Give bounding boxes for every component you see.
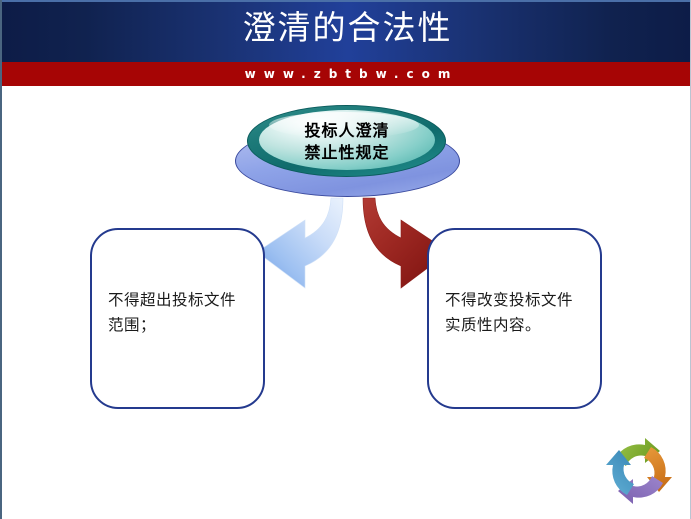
right-rule-box: 不得改变投标文件实质性内容。: [427, 228, 602, 409]
left-rule-box: 不得超出投标文件范围；: [90, 228, 265, 409]
right-rule-text: 不得改变投标文件实质性内容。: [445, 288, 587, 338]
center-node-label: 投标人澄清 禁止性规定: [259, 113, 435, 171]
left-rule-text: 不得超出投标文件范围；: [108, 288, 250, 338]
center-node-line-1: 投标人澄清: [304, 120, 389, 142]
cycle-arrows-logo-icon: [600, 432, 678, 510]
slide-canvas: 澄清的合法性 www.zbtbw.com 投标人澄清 禁止性规定: [0, 0, 691, 519]
page-title: 澄清的合法性: [2, 6, 691, 50]
website-url: www.zbtbw.com: [2, 62, 691, 86]
center-node-line-2: 禁止性规定: [304, 142, 389, 164]
center-node: 投标人澄清 禁止性规定: [235, 99, 460, 199]
header-top-rule: [2, 0, 691, 2]
